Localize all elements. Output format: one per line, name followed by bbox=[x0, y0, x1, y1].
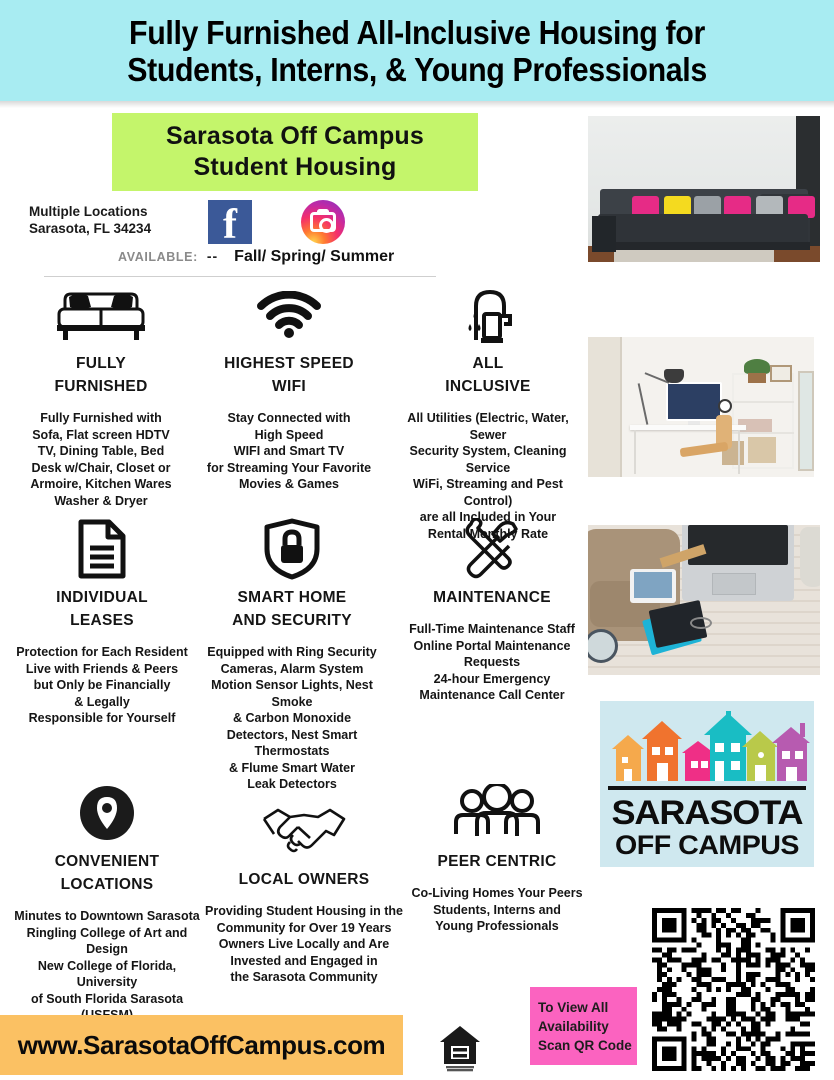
availability-value: Fall/ Spring/ Summer bbox=[234, 248, 394, 266]
feature-title-line1: LOCAL OWNERS bbox=[202, 868, 406, 891]
instagram-icon[interactable] bbox=[301, 200, 345, 244]
feature-peer-centric: PEER CENTRIC Co-Living Homes Your Peers … bbox=[404, 782, 590, 935]
tools-icon bbox=[394, 518, 590, 580]
student-supplies-photo bbox=[588, 525, 820, 675]
flyer-page: Fully Furnished All-Inclusive Housing fo… bbox=[0, 0, 834, 1080]
title-banner-line1: Sarasota Off Campus bbox=[166, 121, 424, 152]
logo-text-line2: OFF CAMPUS bbox=[600, 830, 814, 860]
feature-title-line1: INDIVIDUAL bbox=[12, 586, 192, 609]
qr-instruction-box: To View All Availability Scan QR Code bbox=[530, 987, 637, 1065]
feature-local-owners: LOCAL OWNERS Providing Student Housing i… bbox=[202, 800, 406, 986]
header-title-line1: Fully Furnished All-Inclusive Housing fo… bbox=[129, 14, 705, 51]
facebook-icon[interactable]: f bbox=[208, 200, 252, 244]
logo-divider-bar bbox=[608, 786, 806, 790]
feature-title-line2: FURNISHED bbox=[20, 375, 182, 398]
feature-highest-speed-wifi: HIGHEST SPEED WIFI Stay Connected with H… bbox=[196, 284, 382, 493]
feature-title-line2: LEASES bbox=[12, 609, 192, 632]
qr-instruction-line3: Scan QR Code bbox=[538, 1036, 637, 1055]
availability-row: AVAILABLE: -- Fall/ Spring/ Summer bbox=[118, 248, 394, 266]
feature-title-line2: LOCATIONS bbox=[10, 873, 204, 896]
feature-fully-furnished: FULLY FURNISHED Fully Furnished with Sof… bbox=[20, 284, 182, 509]
document-icon bbox=[12, 518, 192, 580]
feature-body: Providing Student Housing in the Communi… bbox=[202, 903, 406, 986]
feature-body: Stay Connected with High Speed WIFI and … bbox=[196, 410, 382, 493]
feature-title-line1: FULLY bbox=[20, 352, 182, 375]
feature-body: Equipped with Ring Security Cameras, Ala… bbox=[192, 644, 392, 793]
feature-title-line2: WIFI bbox=[196, 375, 382, 398]
instagram-camera-bump bbox=[317, 209, 329, 214]
availability-label: AVAILABLE: bbox=[118, 250, 198, 264]
shield-lock-icon bbox=[192, 518, 392, 580]
instagram-camera-icon bbox=[310, 212, 336, 232]
title-banner-line2: Student Housing bbox=[194, 152, 397, 183]
living-room-photo bbox=[588, 116, 820, 262]
logo-text-line1: SARASOTA bbox=[600, 796, 814, 830]
qr-instruction-line2: Availability bbox=[538, 1017, 637, 1036]
header-title-line2: Students, Interns, & Young Professionals bbox=[127, 51, 707, 88]
location-line-1: Multiple Locations bbox=[29, 203, 151, 220]
colorful-houses-graphic bbox=[600, 711, 814, 785]
website-url[interactable]: www.SarasotaOffCampus.com bbox=[18, 1030, 386, 1061]
feature-title-line1: CONVENIENT bbox=[10, 850, 204, 873]
header-divider bbox=[0, 101, 834, 108]
feature-title-line2: INCLUSIVE bbox=[392, 375, 584, 398]
logo-text: SARASOTA OFF CAMPUS bbox=[600, 796, 814, 860]
feature-body: Fully Furnished with Sofa, Flat screen H… bbox=[20, 410, 182, 509]
sarasota-off-campus-logo: SARASOTA OFF CAMPUS bbox=[600, 701, 814, 867]
feature-title-line1: SMART HOME bbox=[192, 586, 392, 609]
feature-title-line1: HIGHEST SPEED bbox=[196, 352, 382, 375]
feature-title-line1: PEER CENTRIC bbox=[404, 850, 590, 873]
location-block: Multiple Locations Sarasota, FL 34234 bbox=[29, 203, 151, 237]
faucet-icon bbox=[392, 284, 584, 346]
feature-maintenance: MAINTENANCE Full-Time Maintenance Staff … bbox=[394, 518, 590, 704]
feature-title-line1: ALL bbox=[392, 352, 584, 375]
availability-dash: -- bbox=[207, 248, 218, 264]
feature-individual-leases: INDIVIDUAL LEASES Protection for Each Re… bbox=[12, 518, 192, 727]
feature-title-line2: AND SECURITY bbox=[192, 609, 392, 632]
qr-code-icon[interactable] bbox=[652, 908, 815, 1071]
wifi-icon bbox=[196, 284, 382, 346]
facebook-f-glyph: f bbox=[223, 206, 237, 244]
title-banner: Sarasota Off Campus Student Housing bbox=[112, 113, 478, 191]
section-divider bbox=[44, 276, 436, 277]
website-banner[interactable]: www.SarasotaOffCampus.com bbox=[0, 1015, 403, 1075]
location-pin-icon bbox=[10, 782, 204, 844]
feature-body: Full-Time Maintenance Staff Online Porta… bbox=[394, 621, 590, 704]
equal-housing-opportunity-icon bbox=[438, 1024, 482, 1072]
sofa-icon bbox=[20, 284, 182, 346]
feature-smart-home-security: SMART HOME AND SECURITY Equipped with Ri… bbox=[192, 518, 392, 793]
location-line-2: Sarasota, FL 34234 bbox=[29, 220, 151, 237]
people-group-icon bbox=[404, 782, 590, 844]
feature-all-inclusive: ALL INCLUSIVE All Utilities (Electric, W… bbox=[392, 284, 584, 542]
feature-title-line1: MAINTENANCE bbox=[394, 586, 590, 609]
page-header: Fully Furnished All-Inclusive Housing fo… bbox=[0, 0, 834, 101]
desk-workspace-photo bbox=[588, 337, 814, 477]
qr-instruction-line1: To View All bbox=[538, 998, 637, 1017]
feature-body: Protection for Each Resident Live with F… bbox=[12, 644, 192, 727]
feature-body: Co-Living Homes Your Peers Students, Int… bbox=[404, 885, 590, 935]
handshake-icon bbox=[202, 800, 406, 862]
